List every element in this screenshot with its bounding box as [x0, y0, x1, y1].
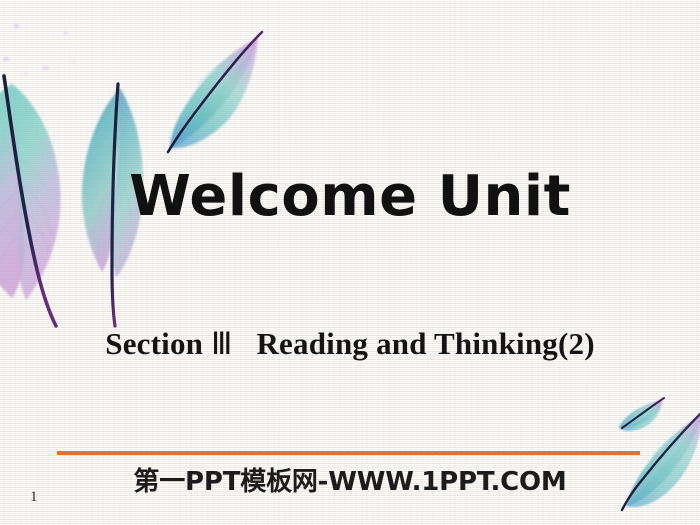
speck-decoration: [24, 72, 28, 75]
orange-divider-rule: [57, 451, 640, 455]
speck-decoration: [42, 66, 49, 70]
page-number: 1: [30, 489, 38, 506]
speck-decoration: [72, 60, 76, 63]
feather-upper-small: [160, 22, 290, 157]
watermark-text: 第一PPT模板网-WWW.1PPT.COM: [0, 461, 700, 498]
paper-texture-background: [0, 0, 700, 525]
subtitle-roman-numeral: Ⅲ: [211, 326, 233, 361]
slide-subtitle: Section Ⅲ Reading and Thinking(2): [0, 326, 700, 362]
slide-title: Welcome Unit: [0, 168, 700, 227]
speck-decoration: [3, 57, 9, 61]
subtitle-prefix: Section: [105, 326, 211, 361]
speck-decoration: [14, 24, 19, 28]
feather-cluster-bottom-right: [598, 388, 700, 525]
speck-decoration: [63, 32, 68, 35]
subtitle-suffix: Reading and Thinking(2): [233, 326, 595, 361]
presentation-slide: Welcome Unit Section Ⅲ Reading and Think…: [0, 0, 700, 525]
